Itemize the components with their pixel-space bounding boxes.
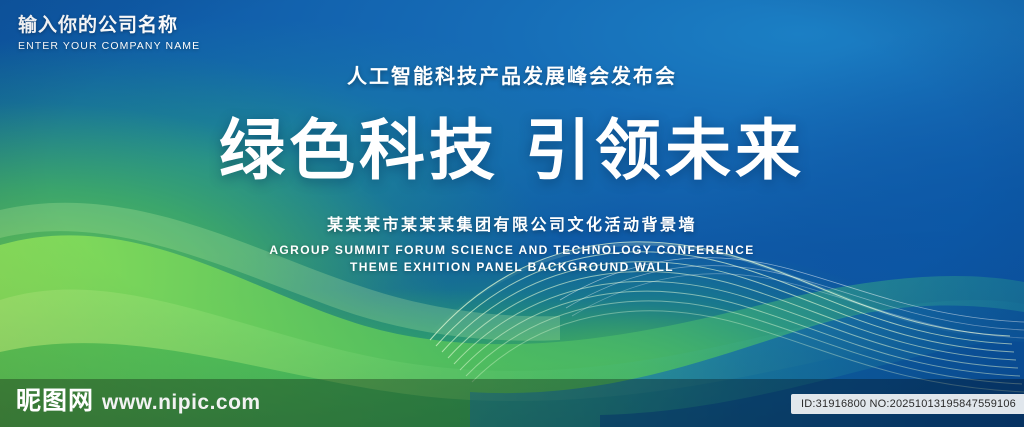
image-id-chip: ID:31916800 NO:20251013195847559106 — [791, 394, 1024, 414]
watermark-brand: 昵图网 www.nipic.com — [16, 381, 261, 417]
background-vignette — [0, 0, 1024, 427]
watermark-url: www.nipic.com — [102, 391, 261, 415]
poster-canvas: 输入你的公司名称 ENTER YOUR COMPANY NAME 人工智能科技产… — [0, 0, 1024, 427]
watermark-logo-cn: 昵图网 — [16, 381, 94, 417]
